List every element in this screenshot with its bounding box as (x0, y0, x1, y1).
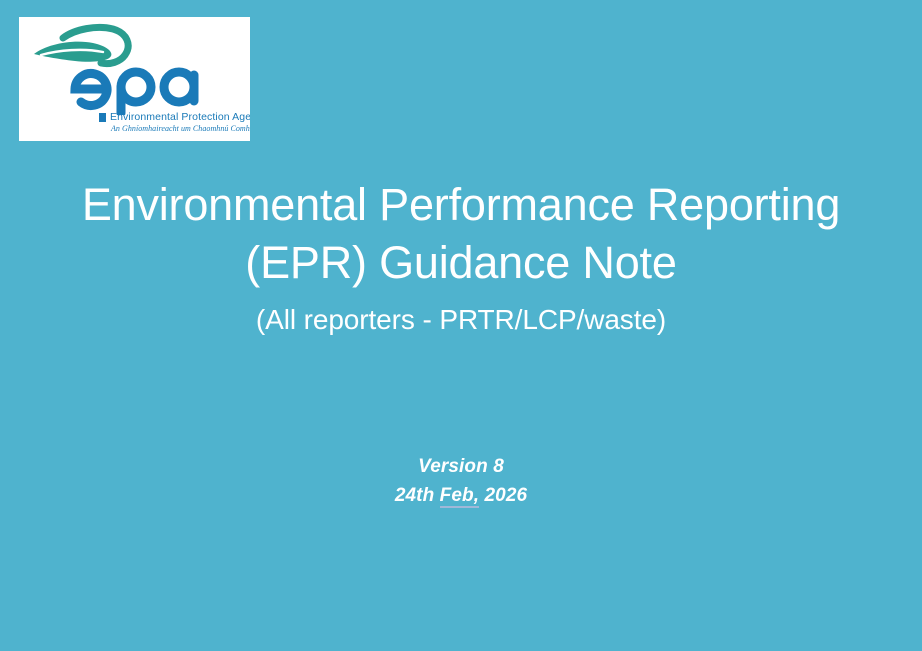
epa-agency-name-irish: An Ghníomhaireacht um Chaomhnú Comhshaoi… (111, 124, 250, 134)
page-title: Environmental Performance Reporting (EPR… (0, 176, 922, 340)
epa-agency-name-block: Environmental Protection Agency An Ghnío… (99, 112, 250, 134)
title-line-1: Environmental Performance Reporting (0, 176, 922, 234)
version-date-prefix: 24th (395, 485, 440, 506)
epa-agency-name-group: Environmental Protection Agency An Ghnío… (110, 112, 250, 134)
epa-bullet-square-icon (99, 113, 106, 122)
epa-logo-card: Environmental Protection Agency An Ghnío… (19, 17, 250, 141)
version-date-suffix: 2026 (479, 485, 527, 506)
version-date-flagged-word: Feb, (440, 485, 479, 508)
version-date: 24th Feb, 2026 (0, 481, 922, 510)
epa-agency-name-english: Environmental Protection Agency (110, 112, 250, 123)
version-label: Version 8 (0, 452, 922, 481)
epa-wordmark (57, 59, 247, 115)
title-line-2: (EPR) Guidance Note (0, 234, 922, 292)
title-slide: Environmental Protection Agency An Ghnío… (0, 0, 922, 651)
version-block: Version 8 24th Feb, 2026 (0, 452, 922, 510)
title-subtitle: (All reporters - PRTR/LCP/waste) (0, 300, 922, 340)
